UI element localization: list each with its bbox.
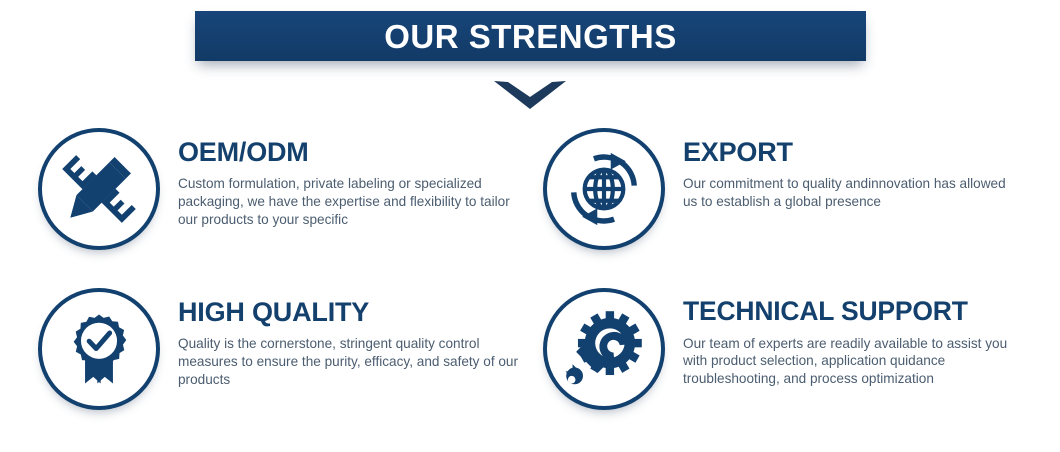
strength-card-oem-odm: OEM/ODM Custom formulation, private labe… [38,128,538,250]
strength-card-high-quality: HIGH QUALITY Quality is the cornerstone,… [38,288,538,410]
pencil-design-icon [38,128,160,250]
strength-description: Our commitment to quality andinnovation … [683,175,1018,210]
page-title: OUR STRENGTHS [384,20,677,53]
section-header-banner: OUR STRENGTHS [195,11,866,61]
globe-export-icon [543,128,665,250]
strength-card-text: OEM/ODM Custom formulation, private labe… [160,128,530,228]
award-ribbon-check-icon [38,288,160,410]
strength-card-text: TECHNICAL SUPPORT Our team of experts ar… [665,288,1031,388]
strength-card-technical-support: TECHNICAL SUPPORT Our team of experts ar… [543,288,1048,410]
strength-description: Our team of experts are readily availabl… [683,335,1031,388]
our-strengths-section: OUR STRENGTHS [0,0,1060,452]
strength-card-text: EXPORT Our commitment to quality andinno… [665,128,1018,211]
strength-card-export: EXPORT Our commitment to quality andinno… [543,128,1043,250]
chevron-down-icon [494,81,566,109]
strengths-grid: OEM/ODM Custom formulation, private labe… [0,120,1060,440]
gear-wrench-icon [543,288,665,410]
strength-title: TECHNICAL SUPPORT [683,298,1031,326]
strength-description: Quality is the cornerstone, stringent qu… [178,335,530,388]
strength-title: HIGH QUALITY [178,298,530,326]
strength-title: OEM/ODM [178,138,530,166]
strength-description: Custom formulation, private labeling or … [178,175,530,228]
strength-card-text: HIGH QUALITY Quality is the cornerstone,… [160,288,530,388]
banner-background: OUR STRENGTHS [195,11,866,61]
strength-title: EXPORT [683,138,1018,166]
